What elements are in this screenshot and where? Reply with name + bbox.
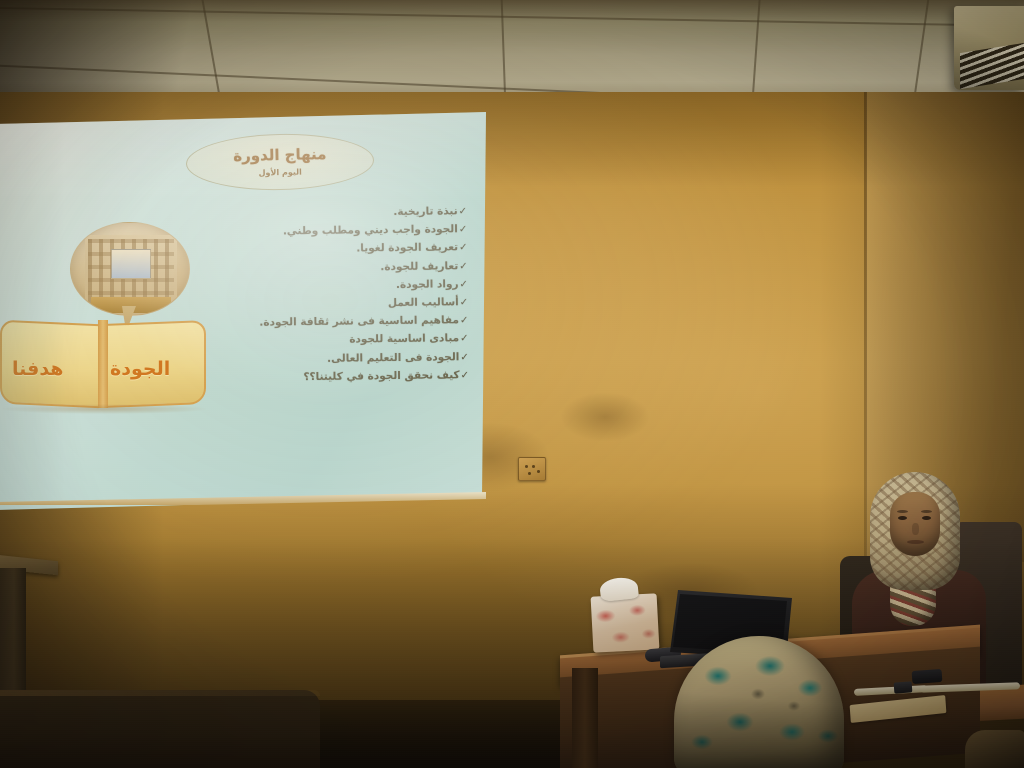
tissue-box-pattern	[591, 593, 660, 652]
bullet-text: تعاريف للجودة.	[380, 260, 458, 273]
nose	[912, 523, 919, 535]
check-icon: ✓	[459, 279, 468, 290]
sofa-highlight	[0, 690, 320, 696]
bullet-text: أساليب العمل	[388, 296, 459, 309]
building-entrance	[111, 249, 151, 279]
wall-socket-icon	[518, 457, 546, 481]
slide-subtitle: اليوم الأول	[258, 167, 301, 177]
slide-title: منهاج الدورة	[233, 146, 327, 164]
book-shadow	[2, 404, 206, 414]
book-text-left: هدفنا	[12, 358, 63, 380]
tissue-box	[591, 593, 660, 652]
slide-title-oval: منهاج الدورة اليوم الأول	[185, 132, 374, 192]
check-icon: ✓	[459, 242, 468, 253]
check-icon: ✓	[461, 370, 470, 381]
bullet-text: كيف نحقق الجودة في كليتنا؟؟	[303, 369, 459, 383]
book-graphic: الجودة هدفنا	[0, 222, 220, 412]
ceiling	[0, 0, 1024, 100]
power-plug	[894, 681, 913, 693]
check-icon: ✓	[460, 297, 469, 308]
check-icon: ✓	[459, 206, 468, 217]
check-icon: ✓	[459, 224, 468, 235]
air-conditioner-icon	[954, 6, 1024, 90]
mouth	[907, 540, 924, 544]
headscarf-shadow	[674, 636, 844, 768]
projection-screen: منهاج الدورة اليوم الأول ✓نبذة تاريخية. …	[0, 112, 488, 512]
building-oval-icon	[70, 222, 190, 316]
mobile-phone	[912, 669, 943, 684]
presentation-slide: منهاج الدورة اليوم الأول ✓نبذة تاريخية. …	[0, 112, 488, 512]
book-text-right: الجودة	[110, 358, 170, 380]
room-photo-scene: منهاج الدورة اليوم الأول ✓نبذة تاريخية. …	[0, 0, 1024, 768]
ac-shadow	[954, 6, 1024, 90]
bullet-text: رواد الجودة.	[396, 278, 459, 291]
check-icon: ✓	[459, 261, 468, 272]
check-icon: ✓	[460, 352, 469, 363]
check-icon: ✓	[460, 315, 469, 326]
bullet-text: الجودة فى التعليم العالى.	[327, 351, 459, 365]
building-illustration	[85, 235, 177, 316]
bullet-text: مفاهيم اساسية فى نشر ثقافة الجودة.	[259, 314, 459, 328]
bullet-text: الجودة واجب ديني ومطلب وطني.	[283, 223, 458, 237]
bullet-text: مبادى اساسية للجودة	[349, 333, 459, 346]
check-icon: ✓	[460, 333, 469, 344]
book-spine	[98, 320, 108, 408]
open-book-icon: الجودة هدفنا	[0, 318, 210, 410]
desk-leg	[572, 668, 598, 768]
foreground-object	[965, 730, 1024, 768]
person-foreground-woman	[664, 636, 854, 768]
bench-sofa	[0, 690, 320, 768]
ceiling-shadow	[0, 0, 230, 100]
bullet-text: تعريف الجودة لغويا.	[356, 242, 458, 255]
face	[890, 492, 940, 556]
bullet-text: نبذة تاريخية.	[393, 205, 457, 218]
